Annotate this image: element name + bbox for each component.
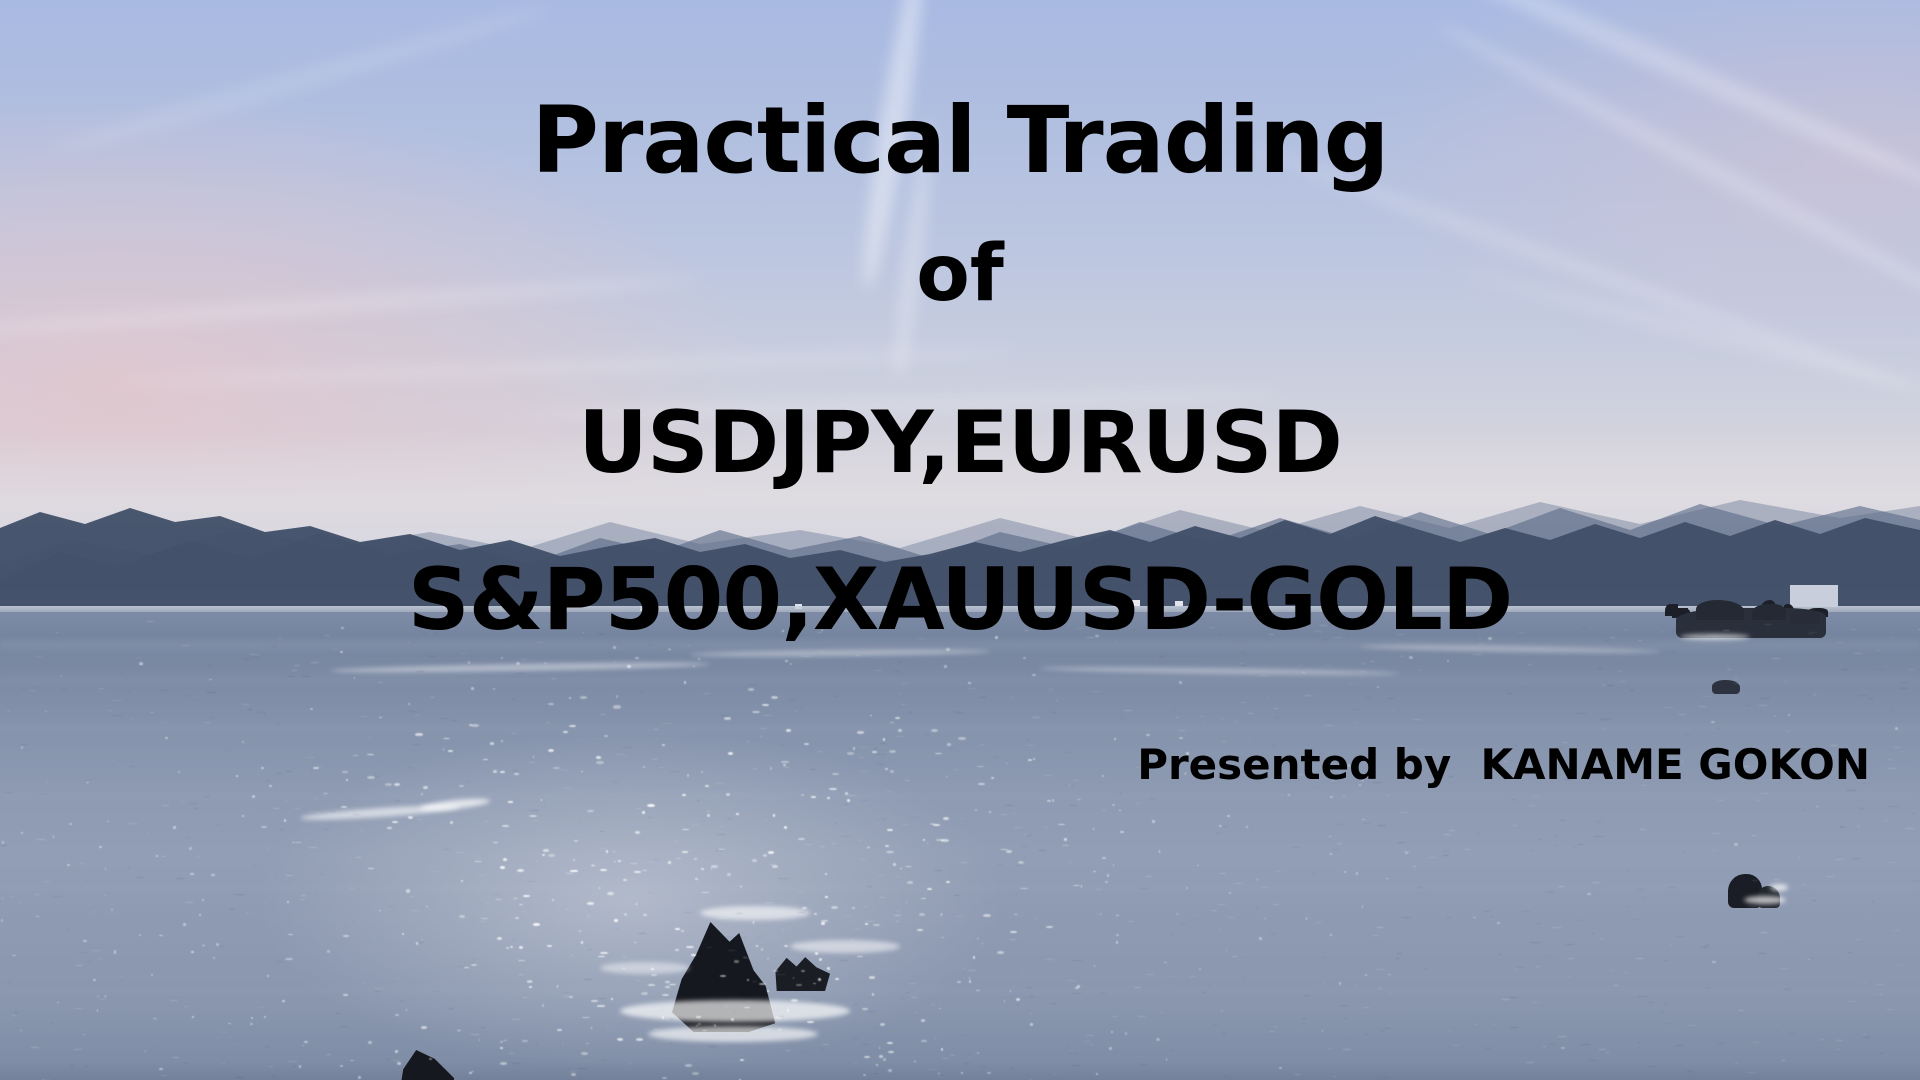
wave-foam [600,962,690,974]
shoreline-building [1790,585,1838,607]
sea-rock [1790,610,1820,624]
wave-foam [790,940,900,953]
wave-foam [1744,896,1786,904]
wave-foam [648,1026,818,1042]
sea-rock [1672,605,1676,611]
wave-foam [1680,634,1750,640]
wave-foam [700,906,810,920]
background-photo [0,0,1920,1080]
wave-foam [1770,884,1788,891]
sea-rock [1696,600,1744,620]
presentation-slide: Practical Trading of USDJPY,EURUSD S&P50… [0,0,1920,1080]
sea-rock [1752,604,1786,620]
